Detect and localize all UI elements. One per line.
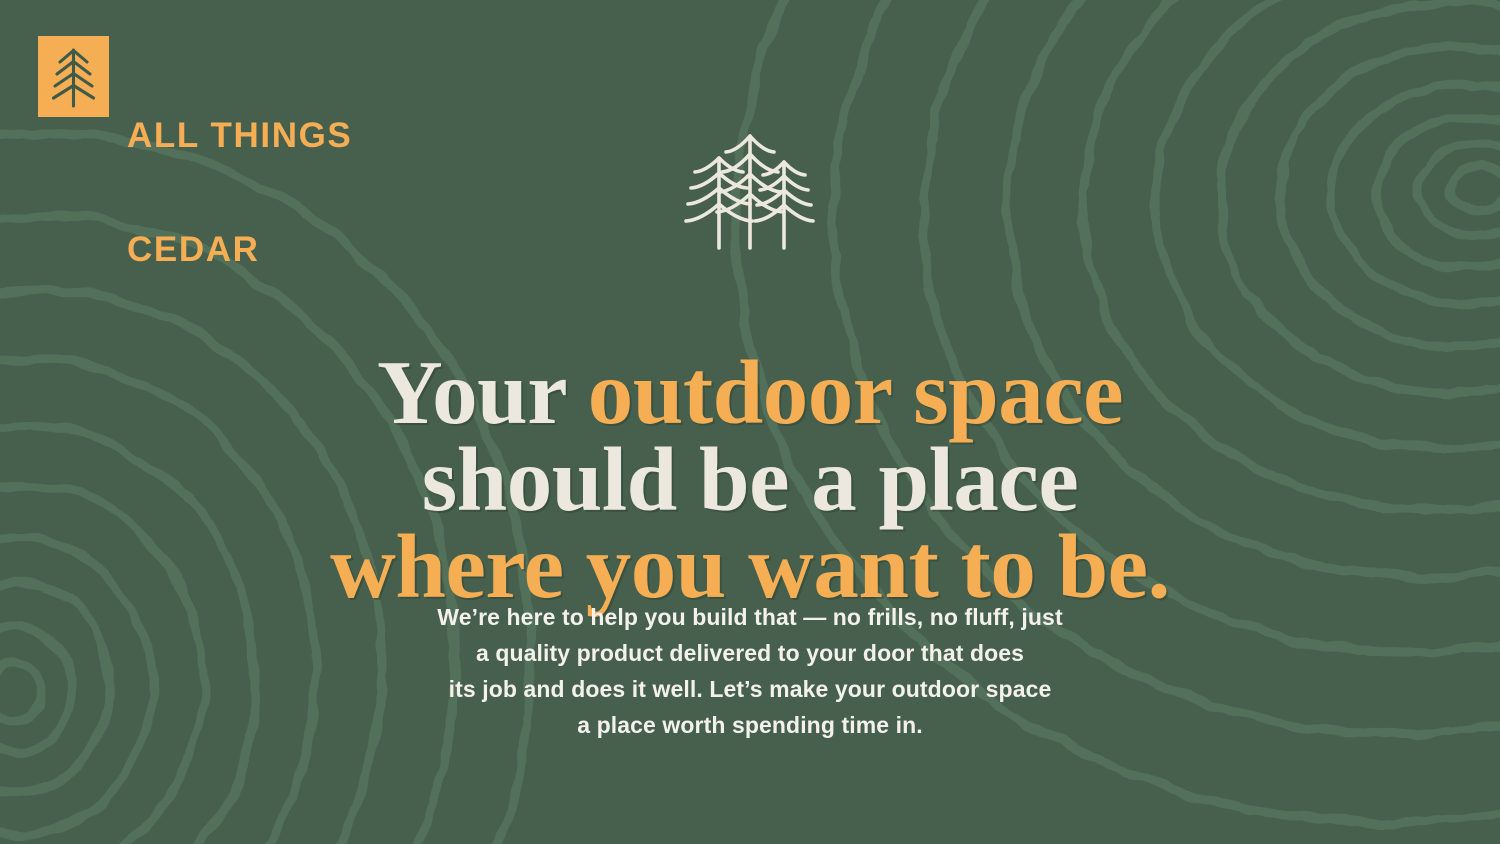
body-copy-line-1: We’re here to help you build that — no f… bbox=[0, 599, 1500, 635]
headline-line-1: Your outdoor space bbox=[0, 349, 1500, 436]
page-headline: Your outdoor space should be a place whe… bbox=[0, 349, 1500, 610]
body-copy-line-2: a quality product delivered to your door… bbox=[0, 635, 1500, 671]
headline-text-plain: Your bbox=[377, 342, 588, 443]
body-copy: We’re here to help you build that — no f… bbox=[0, 599, 1500, 743]
headline-line-2: should be a place bbox=[0, 436, 1500, 523]
brand-wordmark: ALL THINGS CEDAR bbox=[127, 36, 352, 345]
three-pine-trees-icon bbox=[675, 128, 825, 250]
body-copy-line-4: a place worth spending time in. bbox=[0, 707, 1500, 743]
body-copy-line-3: its job and does it well. Let’s make you… bbox=[0, 671, 1500, 707]
headline-line-3: where you want to be. bbox=[0, 523, 1500, 610]
cedar-tree-icon bbox=[38, 36, 109, 117]
headline-text-plain: should be a place bbox=[422, 429, 1078, 530]
headline-text-accent: outdoor space bbox=[588, 342, 1123, 443]
brand-wordmark-line-2: CEDAR bbox=[127, 231, 352, 269]
logo-lockup[interactable]: ALL THINGS CEDAR bbox=[38, 36, 352, 345]
brand-wordmark-line-1: ALL THINGS bbox=[127, 117, 352, 155]
brand-statement-banner: ALL THINGS CEDAR Your outd bbox=[0, 0, 1500, 844]
